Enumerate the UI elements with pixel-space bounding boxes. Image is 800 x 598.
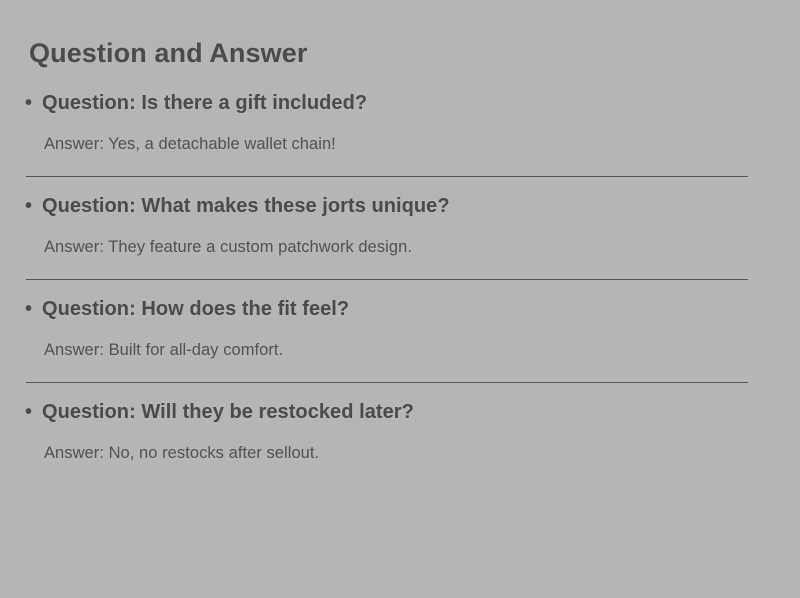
qa-list: • Question: Is there a gift included? An… (0, 88, 800, 465)
qa-question: • Question: Is there a gift included? (0, 88, 774, 118)
page-title: Question and Answer (29, 37, 307, 71)
bullet-icon: • (25, 294, 35, 324)
qa-block: • Question: Is there a gift included? An… (0, 88, 774, 156)
qa-answer-text: Answer: They feature a custom patchwork … (0, 235, 774, 259)
qa-question-text: Question: Will they be restocked later? (42, 401, 414, 423)
qa-question-text: Question: Is there a gift included? (42, 92, 367, 114)
qa-answer-text: Answer: Built for all-day comfort. (0, 338, 774, 362)
qa-block: • Question: What makes these jorts uniqu… (0, 177, 774, 259)
qa-question: • Question: Will they be restocked later… (0, 397, 774, 427)
bullet-icon: • (25, 397, 35, 427)
qa-question: • Question: What makes these jorts uniqu… (0, 191, 774, 221)
bullet-icon: • (25, 191, 35, 221)
question-and-answer-page: Question and Answer • Question: Is there… (0, 0, 800, 598)
qa-item: • Question: Will they be restocked later… (0, 383, 800, 465)
qa-item: • Question: Is there a gift included? An… (0, 88, 800, 177)
qa-block: • Question: How does the fit feel? Answe… (0, 280, 774, 362)
qa-item: • Question: What makes these jorts uniqu… (0, 177, 800, 280)
qa-question: • Question: How does the fit feel? (0, 294, 774, 324)
qa-answer-text: Answer: No, no restocks after sellout. (0, 441, 774, 465)
qa-item: • Question: How does the fit feel? Answe… (0, 280, 800, 383)
qa-question-text: Question: How does the fit feel? (42, 298, 349, 320)
qa-question-text: Question: What makes these jorts unique? (42, 195, 450, 217)
qa-block: • Question: Will they be restocked later… (0, 383, 774, 465)
bullet-icon: • (25, 88, 35, 118)
qa-answer-text: Answer: Yes, a detachable wallet chain! (0, 132, 774, 156)
